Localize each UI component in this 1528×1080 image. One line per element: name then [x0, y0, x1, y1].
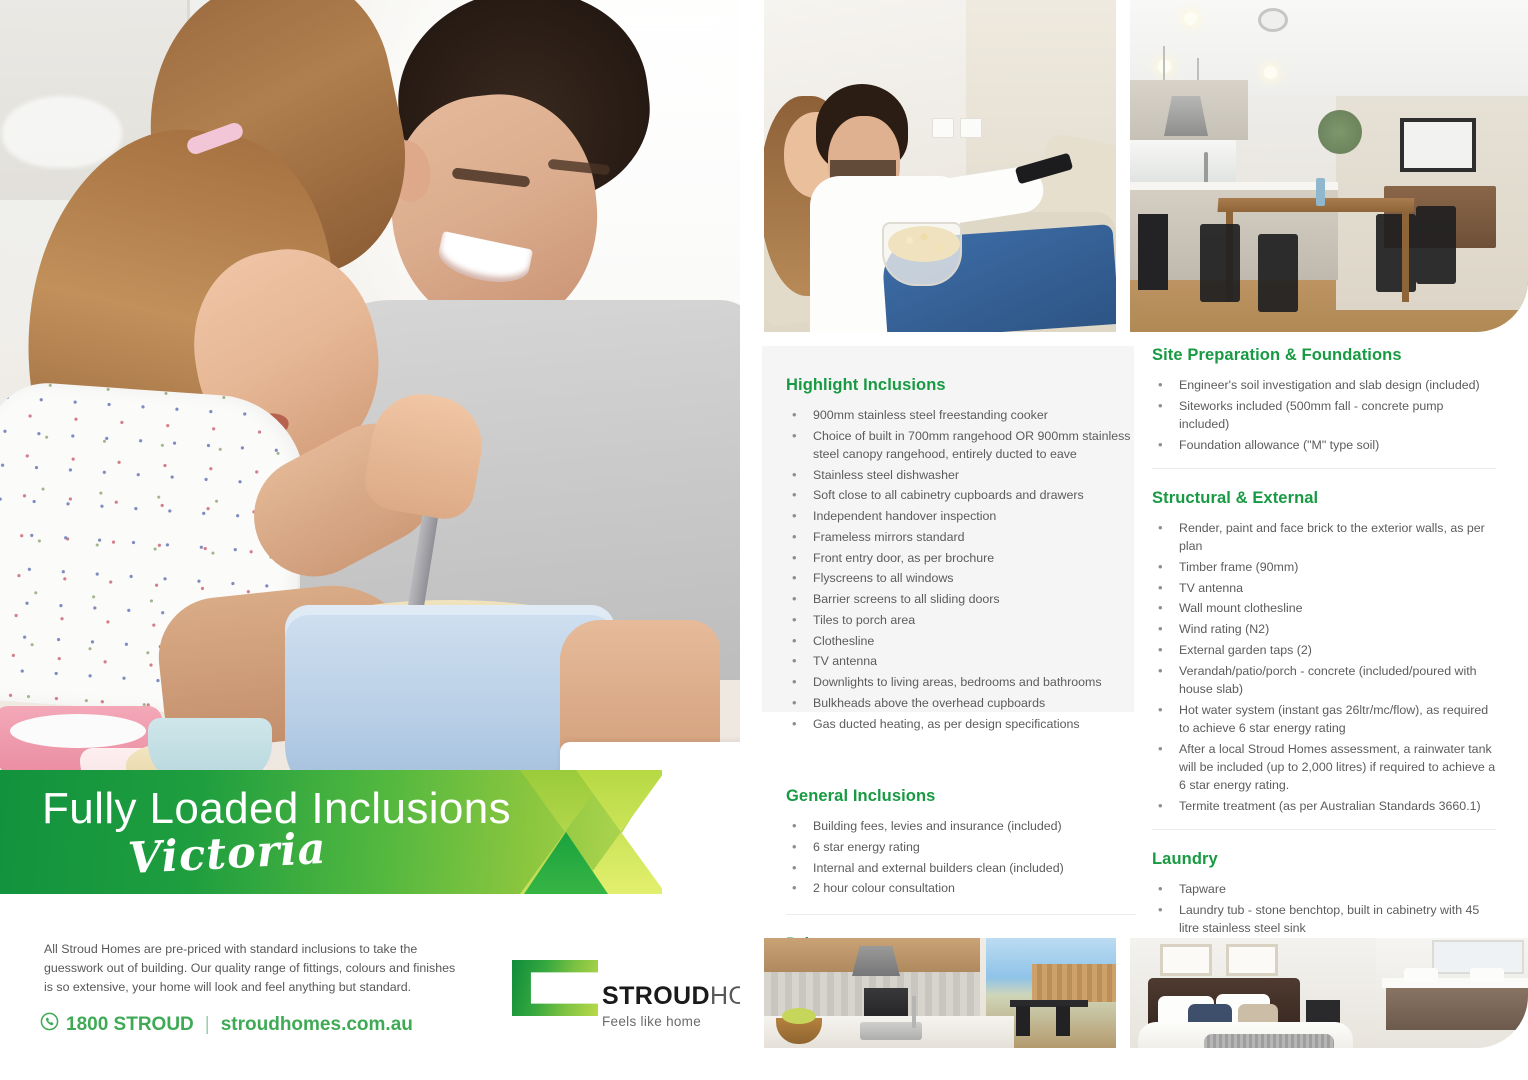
general-inclusions-list: Building fees, levies and insurance (inc… [786, 817, 1136, 897]
list-item: Termite treatment (as per Australian Sta… [1152, 797, 1496, 815]
site-preparation-list: Engineer's soil investigation and slab d… [1152, 376, 1496, 454]
list-item: Tiles to porch area [786, 611, 1136, 629]
list-item: Barrier screens to all sliding doors [786, 590, 1136, 608]
list-item: Engineer's soil investigation and slab d… [1152, 376, 1496, 394]
section-title: General Inclusions [786, 787, 1136, 806]
phone-circle-icon [40, 1012, 59, 1037]
list-item: Bulkheads above the overhead cupboards [786, 694, 1136, 712]
section-title: Laundry [1152, 850, 1496, 869]
website-link[interactable]: stroudhomes.com.au [221, 1014, 413, 1036]
section-divider [1152, 468, 1496, 469]
contact-separator: | [205, 1014, 210, 1036]
list-item: Siteworks included (500mm fall - concret… [1152, 397, 1496, 433]
logo-tagline: Feels like home [602, 1014, 701, 1029]
list-item: Render, paint and face brick to the exte… [1152, 519, 1496, 555]
list-item: Verandah/patio/porch - concrete (include… [1152, 662, 1496, 698]
hero-photo-family-baking [0, 0, 740, 790]
contact-bar: 1800 STROUD | stroudhomes.com.au [40, 1012, 413, 1037]
list-item: Wall mount clothesline [1152, 599, 1496, 617]
list-item: Downlights to living areas, bedrooms and… [786, 673, 1136, 691]
section-site-preparation: Site Preparation & Foundations Engineer'… [1152, 346, 1496, 454]
list-item: Choice of built in 700mm rangehood OR 90… [786, 427, 1136, 463]
right-panel: Highlight Inclusions 900mm stainless ste… [740, 0, 1528, 1080]
bottom-photo-row [764, 938, 1528, 1048]
logo-name-bold: STROUD [602, 982, 710, 1010]
phone-number[interactable]: 1800 STROUD [66, 1014, 194, 1036]
section-divider [1152, 829, 1496, 830]
right-text-column: Site Preparation & Foundations Engineer'… [1152, 346, 1496, 960]
list-item: Flyscreens to all windows [786, 569, 1136, 587]
disclaimer-block: All Stroud Homes are pre-priced with sta… [44, 940, 464, 998]
list-item: Wind rating (N2) [1152, 620, 1496, 638]
list-item: Internal and external builders clean (in… [786, 859, 1136, 877]
kitchen-dining-photo [1130, 0, 1528, 332]
section-title: Structural & External [1152, 489, 1496, 508]
logo-name: STROUDHOMES [602, 982, 740, 1011]
top-photo-row [764, 0, 1528, 332]
list-item: Building fees, levies and insurance (inc… [786, 817, 1136, 835]
bedroom-ensuite-photo [1130, 938, 1528, 1048]
section-divider [786, 914, 1136, 915]
section-general-inclusions: General Inclusions Building fees, levies… [786, 787, 1136, 897]
banner-title-line2: Victoria [127, 824, 328, 884]
kitchen-alfresco-photo [764, 938, 1116, 1048]
list-item: 2 hour colour consultation [786, 879, 1136, 897]
disclaimer-text: All Stroud Homes are pre-priced with sta… [44, 940, 464, 998]
list-item: Foundation allowance ("M" type soil) [1152, 436, 1496, 454]
brochure-page: Fully Loaded Inclusions Victoria All Str… [0, 0, 1528, 1080]
list-item: Timber frame (90mm) [1152, 558, 1496, 576]
list-item: Stainless steel dishwasher [786, 466, 1136, 484]
list-item: TV antenna [1152, 579, 1496, 597]
left-text-column: Highlight Inclusions 900mm stainless ste… [786, 376, 1136, 985]
list-item: After a local Stroud Homes assessment, a… [1152, 740, 1496, 795]
list-item: Clothesline [786, 632, 1136, 650]
list-item: Front entry door, as per brochure [786, 549, 1136, 567]
list-item: Independent handover inspection [786, 507, 1136, 525]
list-item: TV antenna [786, 652, 1136, 670]
section-structural-external: Structural & External Render, paint and … [1152, 489, 1496, 815]
list-item: 900mm stainless steel freestanding cooke… [786, 406, 1136, 424]
section-highlight-inclusions: Highlight Inclusions 900mm stainless ste… [786, 376, 1136, 733]
list-item: Tapware [1152, 880, 1496, 898]
list-item: Frameless mirrors standard [786, 528, 1136, 546]
couple-watching-tv-photo [764, 0, 1116, 332]
left-panel: Fully Loaded Inclusions Victoria All Str… [0, 0, 740, 1080]
list-item: Hot water system (instant gas 26ltr/mc/f… [1152, 701, 1496, 737]
logo-name-light: HOMES [710, 982, 740, 1010]
list-item: Gas ducted heating, as per design specif… [786, 715, 1136, 733]
list-item: External garden taps (2) [1152, 641, 1496, 659]
structural-external-list: Render, paint and face brick to the exte… [1152, 519, 1496, 815]
bracket-mark-icon [512, 960, 598, 1016]
list-item: Laundry tub - stone benchtop, built in c… [1152, 901, 1496, 937]
section-title: Site Preparation & Foundations [1152, 346, 1496, 365]
list-item: 6 star energy rating [786, 838, 1136, 856]
stroud-homes-logo: STROUDHOMES Feels like home [508, 958, 726, 1042]
list-item: Soft close to all cabinetry cupboards an… [786, 486, 1136, 504]
highlight-inclusions-list: 900mm stainless steel freestanding cooke… [786, 406, 1136, 733]
title-banner: Fully Loaded Inclusions Victoria [0, 770, 662, 894]
section-title: Highlight Inclusions [786, 376, 1136, 395]
